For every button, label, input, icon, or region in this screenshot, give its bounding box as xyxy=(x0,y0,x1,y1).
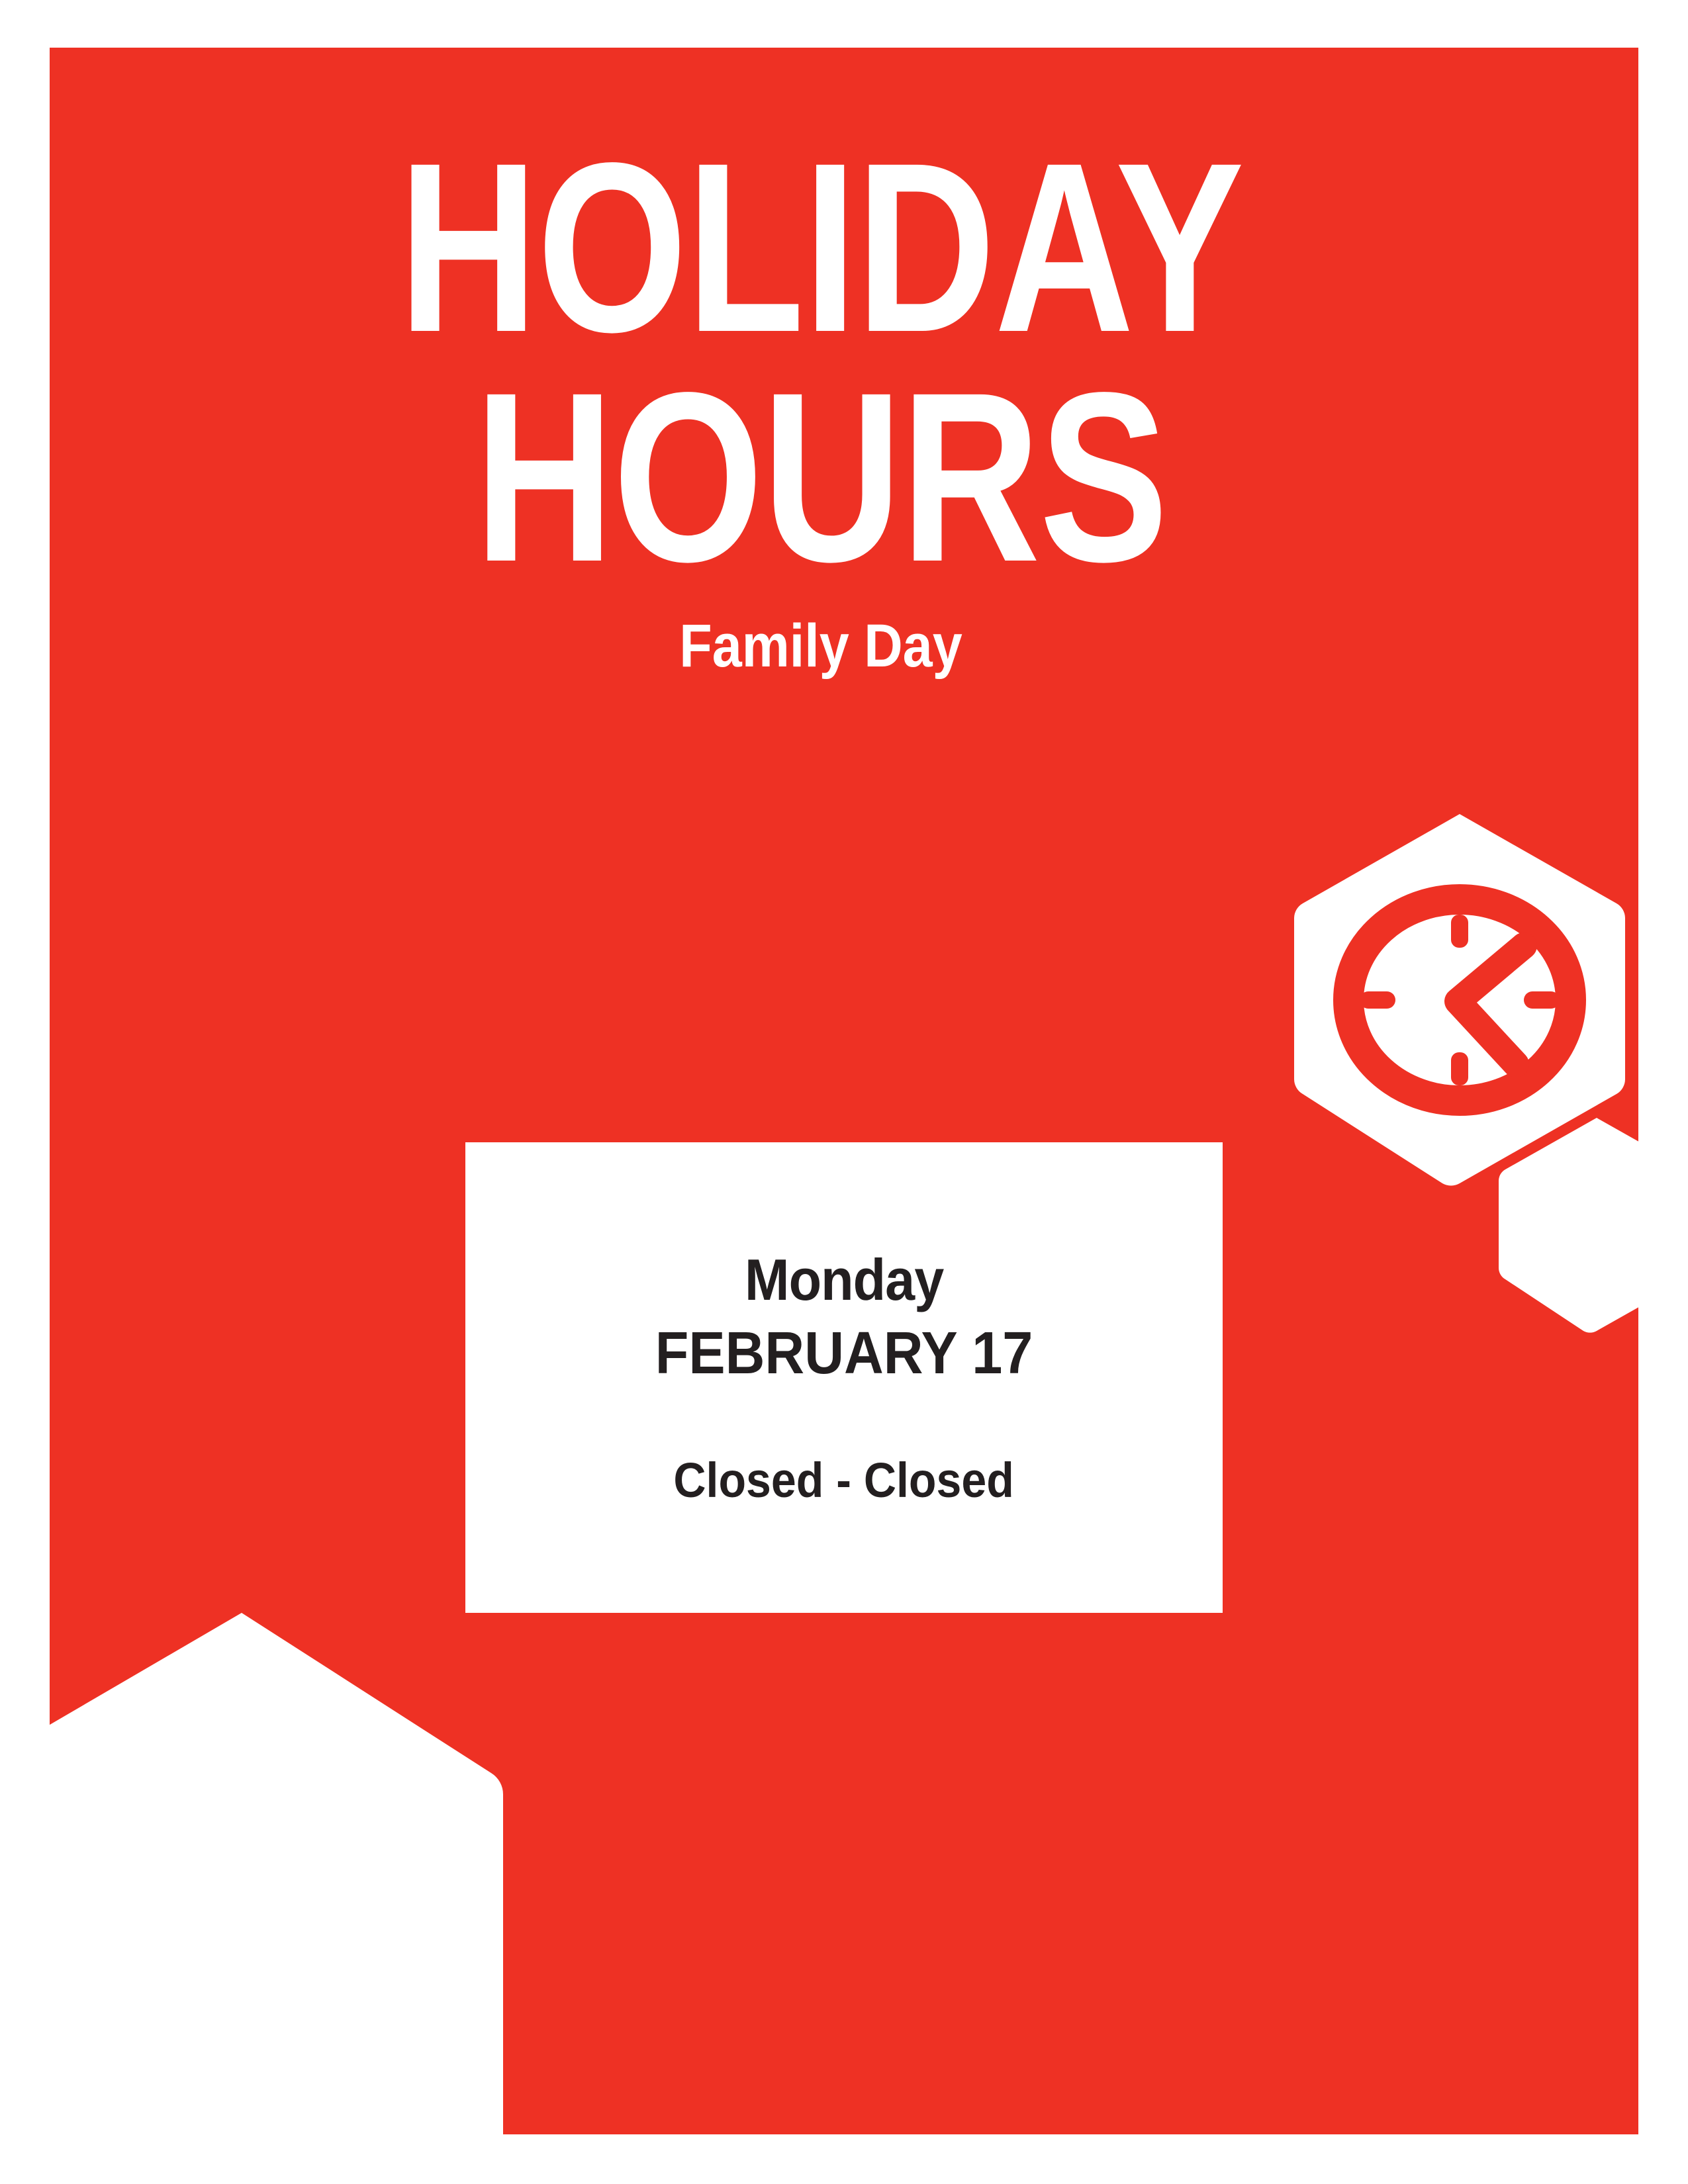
page-title-line-1: HOLIDAY xyxy=(204,134,1438,363)
hexagon-shape-large xyxy=(50,1606,510,2134)
hexagon-shape-small xyxy=(1497,1115,1638,1334)
page-subtitle: Family Day xyxy=(142,615,1499,676)
page-title-line-2: HOURS xyxy=(204,363,1438,593)
card-weekday: Monday xyxy=(745,1251,943,1309)
card-hours: Closed - Closed xyxy=(674,1456,1014,1505)
red-background-panel: HOLIDAY HOURS Family Day xyxy=(50,48,1638,2134)
holiday-hours-poster: HOLIDAY HOURS Family Day xyxy=(0,0,1688,2184)
holiday-info-card: Monday FEBRUARY 17 Closed - Closed xyxy=(465,1142,1223,1613)
card-date: FEBRUARY 17 xyxy=(655,1324,1033,1383)
poster-heading: HOLIDAY HOURS Family Day xyxy=(50,134,1592,676)
